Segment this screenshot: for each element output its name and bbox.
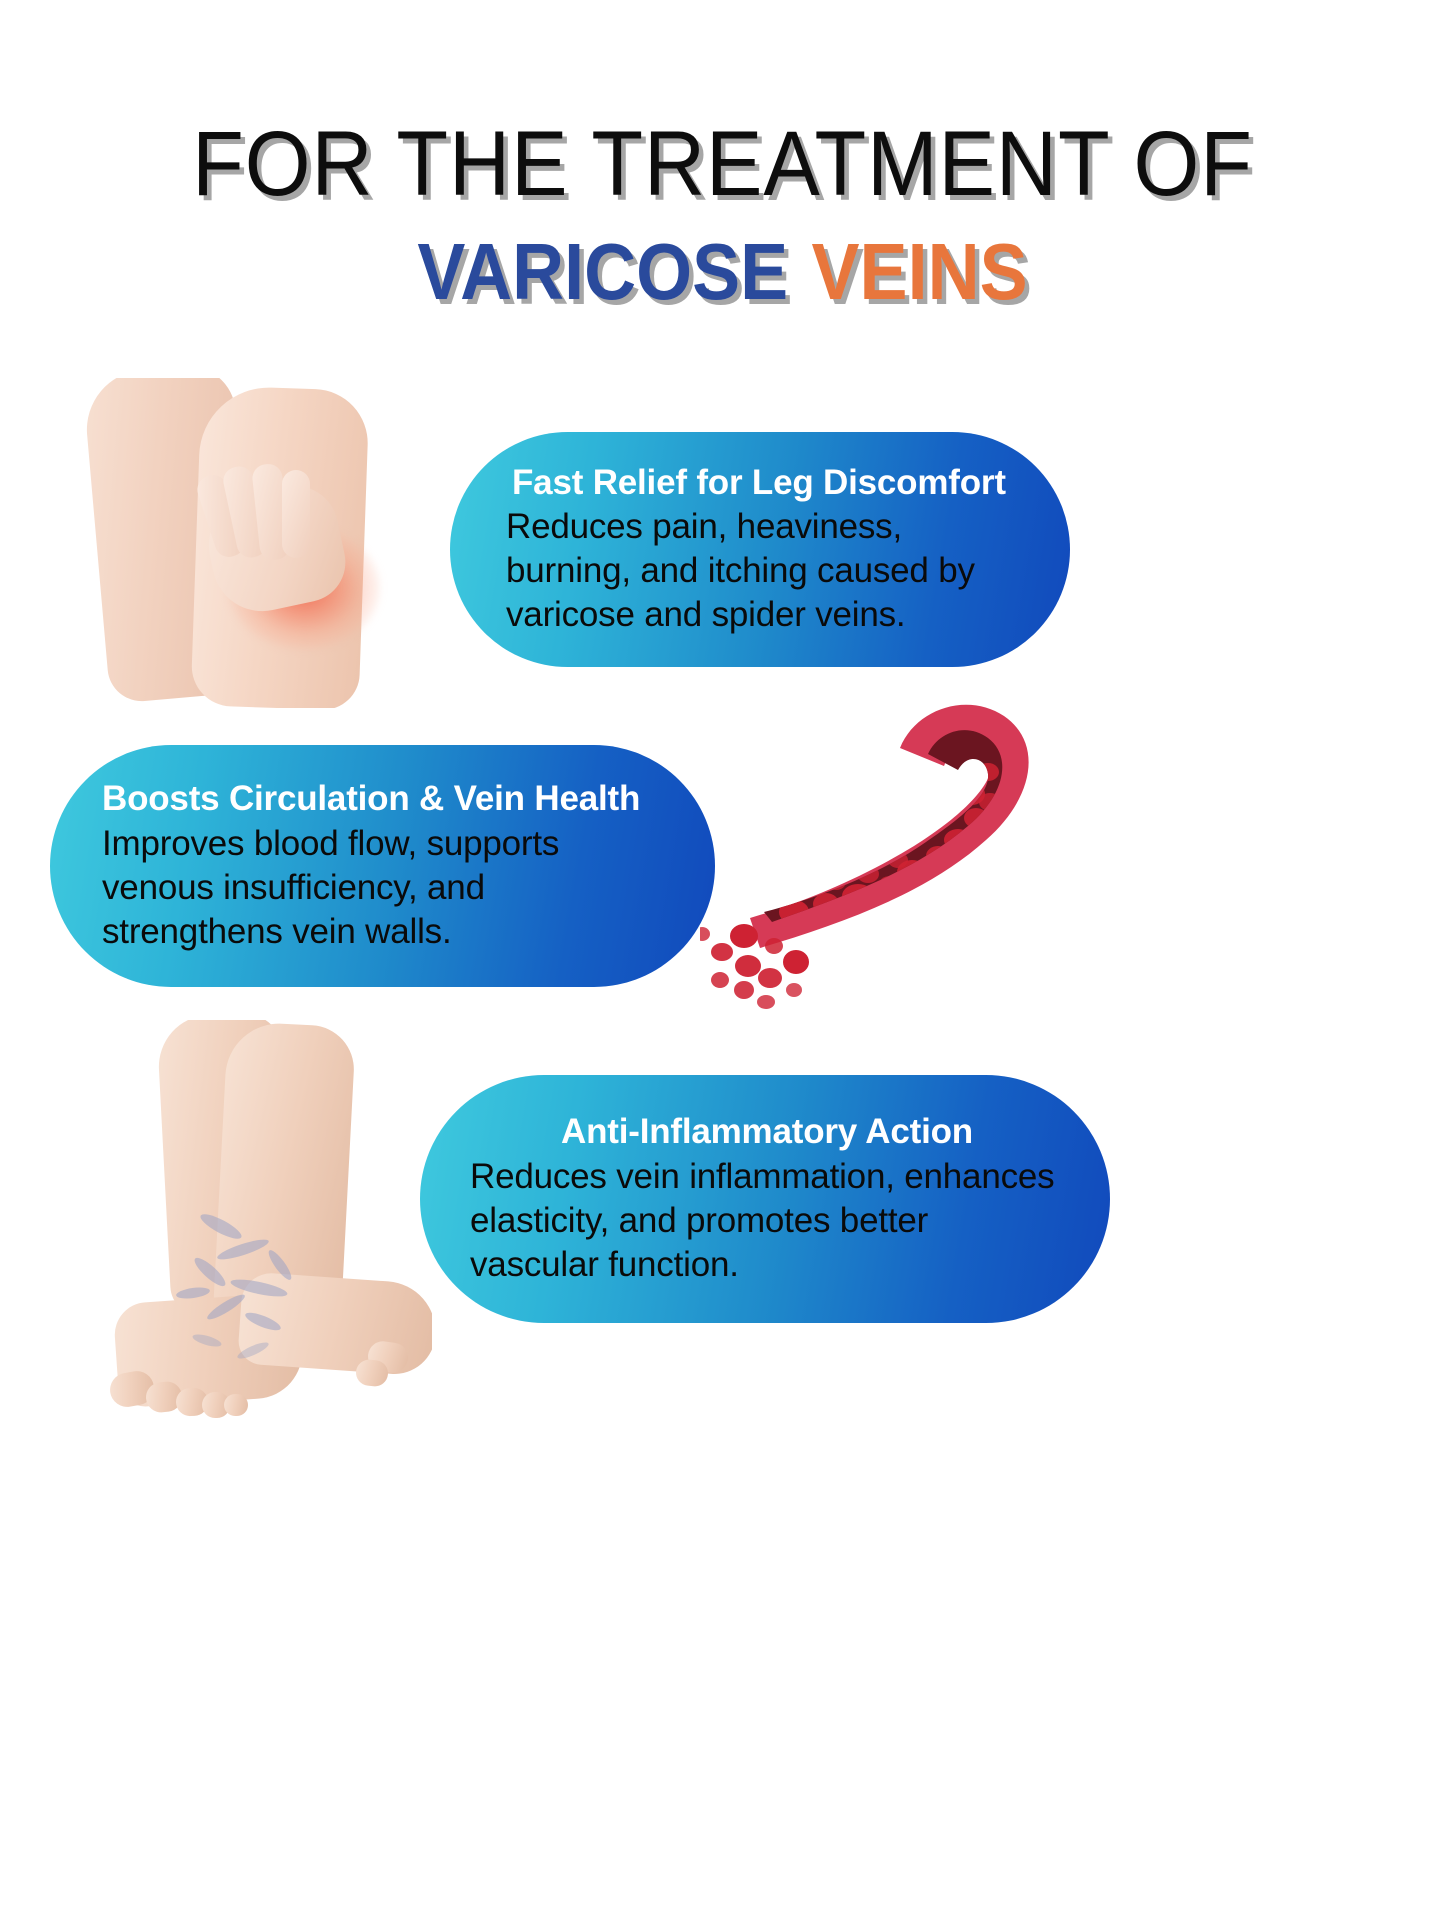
benefit-card-fast-relief: Fast Relief for Leg Discomfort Reduces p… <box>450 432 1070 667</box>
benefit-card-anti-inflammatory: Anti-Inflammatory Action Reduces vein in… <box>420 1075 1110 1323</box>
varicose-veins-infographic-poster: FOR THE TREATMENT OF VARICOSEVEINS Fast … <box>0 0 1445 1927</box>
benefit-card-heading: Boosts Circulation & Vein Health <box>102 778 667 819</box>
poster-title-line-2: VARICOSEVEINS <box>72 232 1373 312</box>
title-word-varicose: VARICOSE <box>417 227 788 316</box>
benefit-card-body: Improves blood flow, supports venous ins… <box>102 822 667 954</box>
finger-4 <box>282 470 310 558</box>
toe <box>224 1394 248 1416</box>
benefit-card-heading: Fast Relief for Leg Discomfort <box>506 462 1018 503</box>
poster-title-block: FOR THE TREATMENT OF VARICOSEVEINS <box>0 118 1445 312</box>
blood-vessel-illustration <box>700 690 1120 1010</box>
leg-pain-photo <box>78 378 408 708</box>
varicose-legs-photo <box>72 1020 432 1450</box>
benefit-card-body: Reduces pain, heaviness, burning, and it… <box>506 505 1018 637</box>
benefit-card-body: Reduces vein inflammation, enhances elas… <box>470 1155 1064 1287</box>
title-word-veins: VEINS <box>812 227 1028 316</box>
benefit-card-heading: Anti-Inflammatory Action <box>470 1111 1064 1152</box>
poster-title-line-1: FOR THE TREATMENT OF <box>58 118 1387 210</box>
benefit-card-boosts-circulation: Boosts Circulation & Vein Health Improve… <box>50 745 715 987</box>
